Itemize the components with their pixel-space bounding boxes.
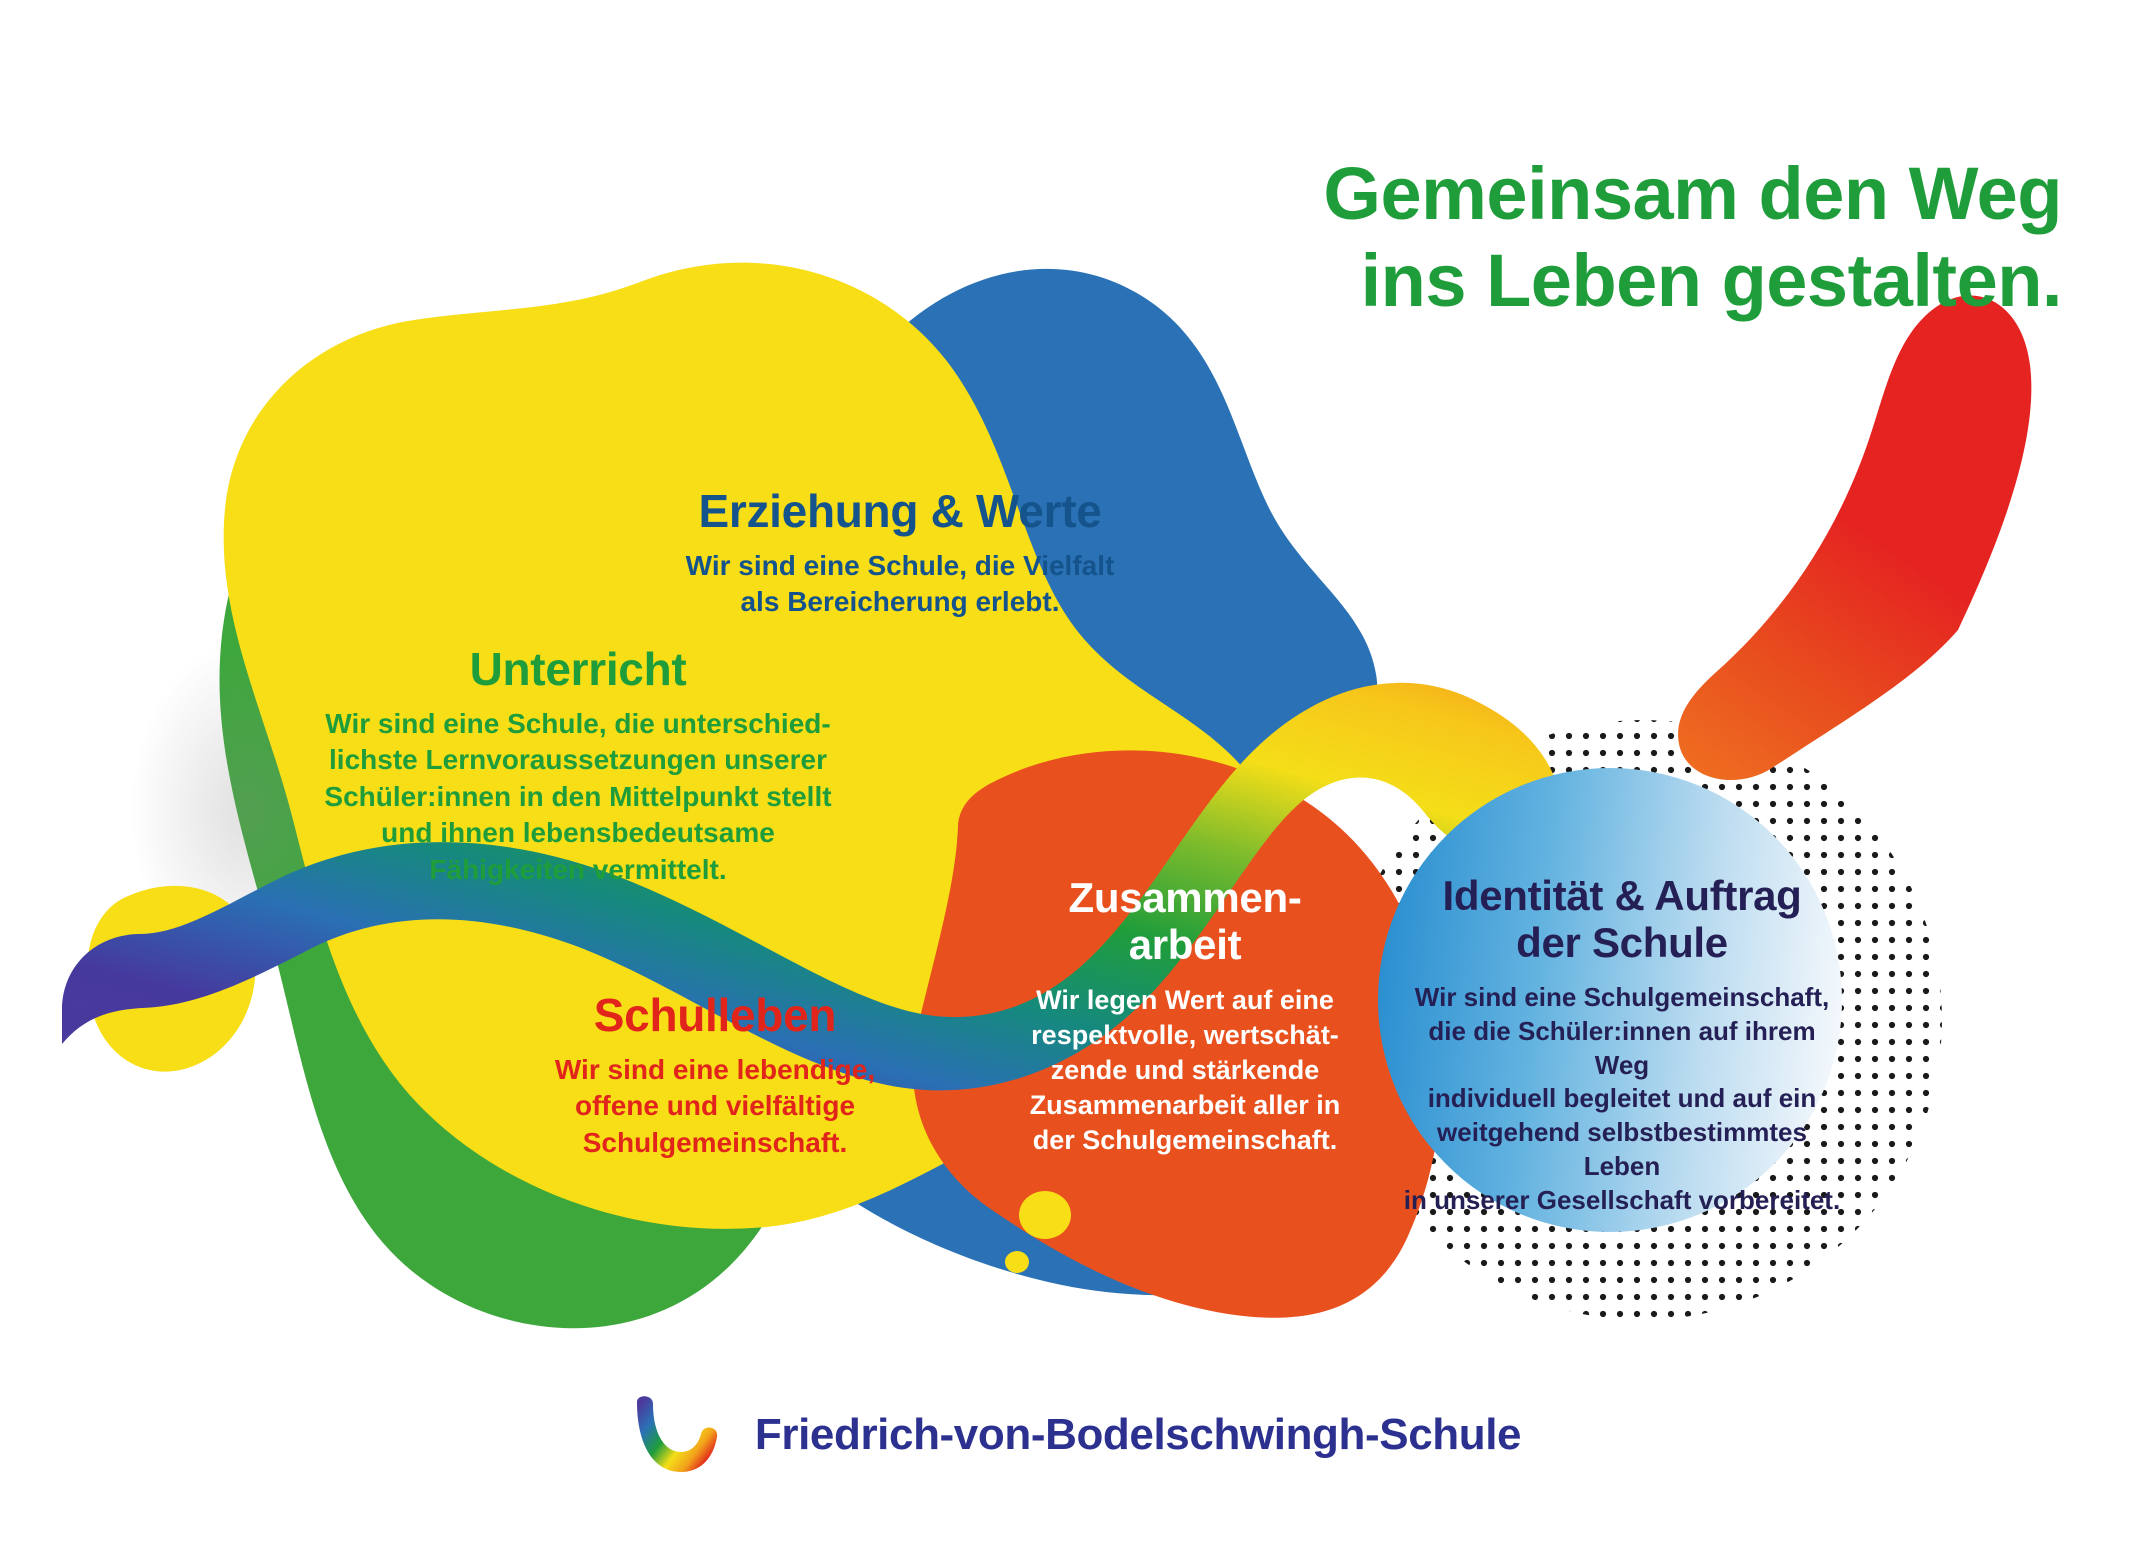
red-arc	[1678, 295, 2031, 780]
yellow-dot-small	[1005, 1251, 1029, 1273]
decorative-shape-artwork	[0, 0, 2140, 1551]
rainbow-smile-arc-icon	[619, 1380, 729, 1490]
poster-canvas: Gemeinsam den Weg ins Leben gestalten. E…	[0, 0, 2140, 1551]
blue-gradient-circle	[1378, 768, 1842, 1232]
school-name: Friedrich-von-Bodelschwingh-Schule	[755, 1410, 1521, 1460]
footer: Friedrich-von-Bodelschwingh-Schule	[0, 1380, 2140, 1490]
yellow-dot-large	[1019, 1191, 1071, 1239]
